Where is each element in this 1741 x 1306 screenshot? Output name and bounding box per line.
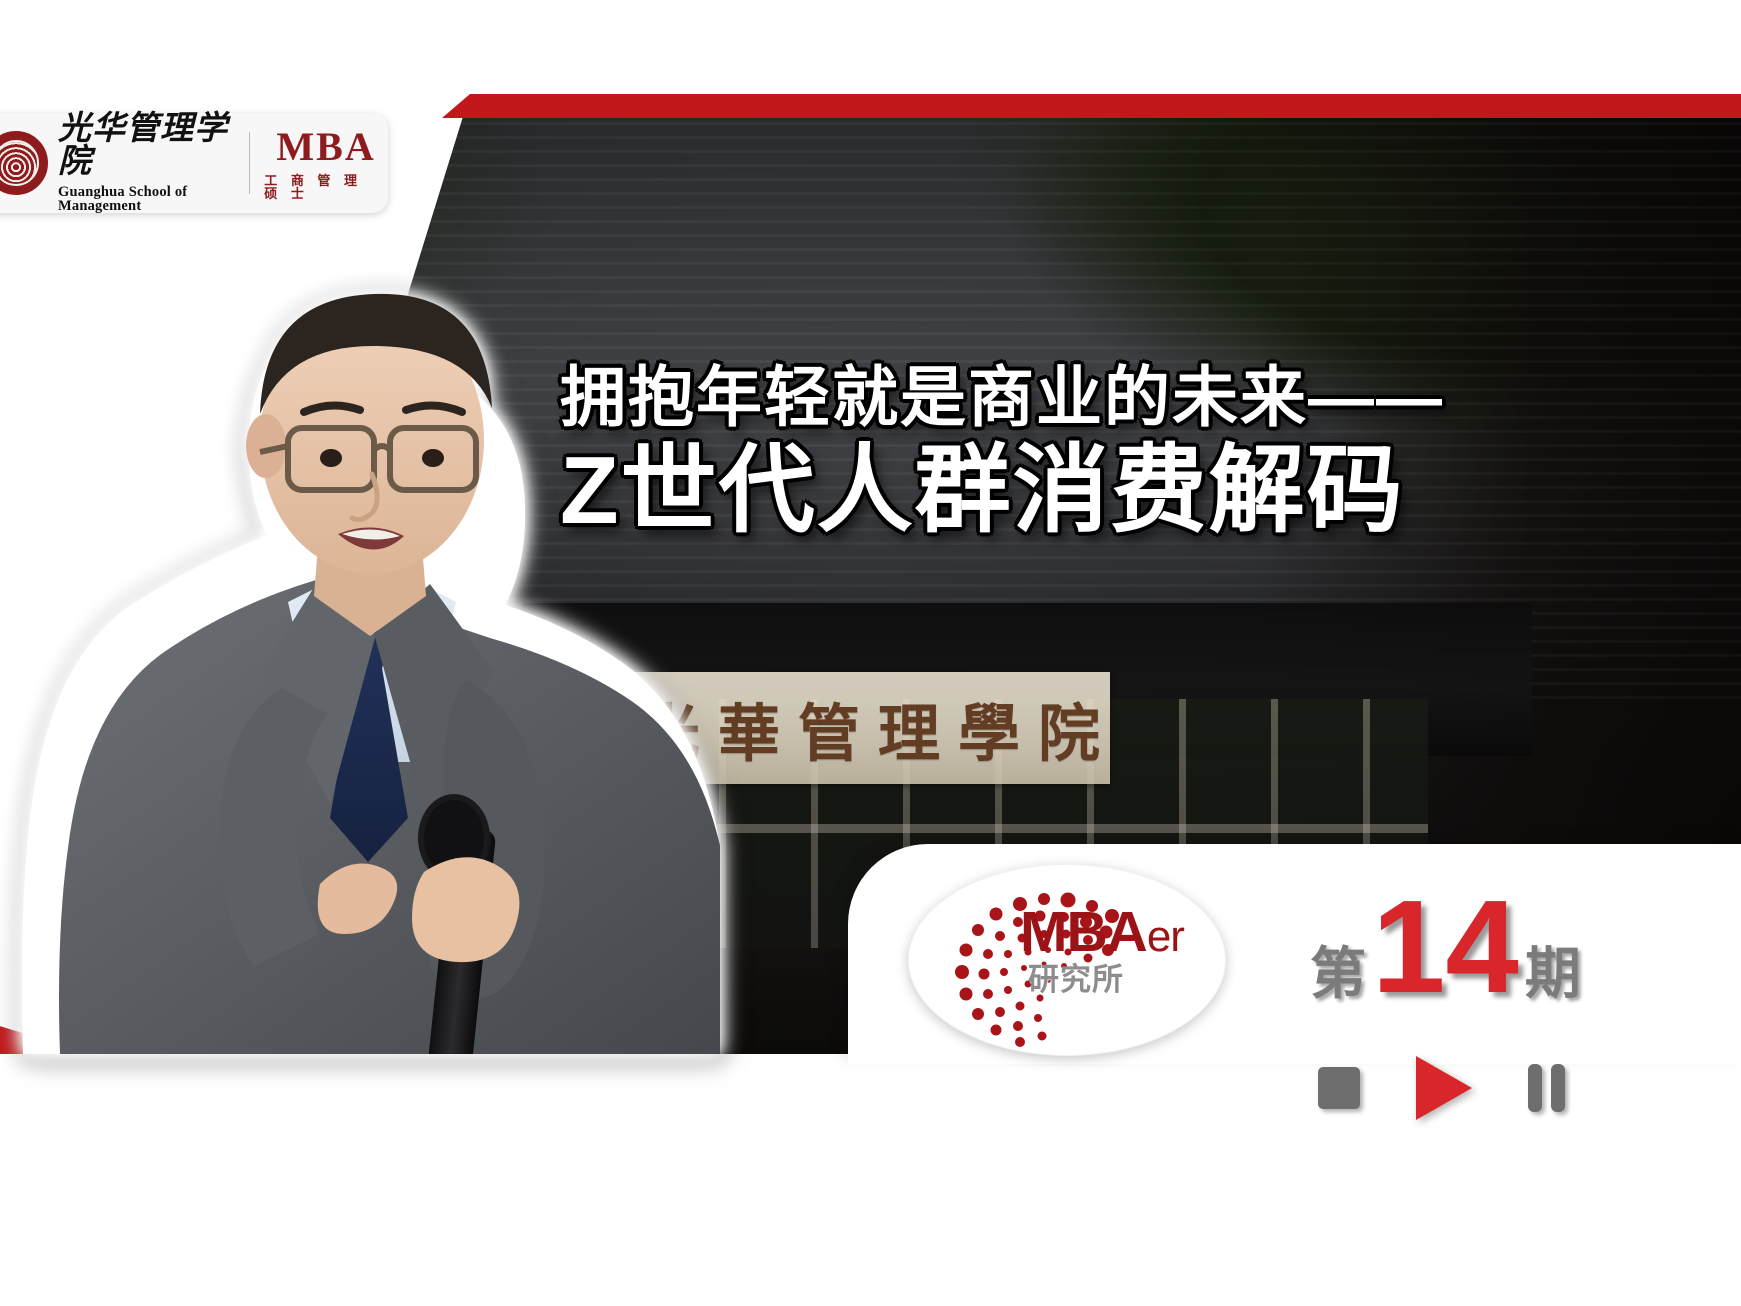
mbaer-wordmark-main: MBA <box>1020 900 1147 964</box>
mba-program-block: MBA 工 商 管 理 硕 士 <box>264 127 388 200</box>
sign-char-5: 學 <box>958 683 1022 773</box>
episode-prefix: 第 <box>1310 947 1366 1003</box>
stop-icon[interactable] <box>1318 1067 1360 1109</box>
mbaer-wordmark: MBAer <box>1020 904 1184 961</box>
episode-number: 14 <box>1372 892 1519 1003</box>
video-thumbnail-canvas: 光 華 管 理 學 院 光华管理学院 Guanghua School of Ma… <box>0 0 1741 1306</box>
sign-char-4: 理 <box>878 683 942 773</box>
play-icon[interactable] <box>1416 1056 1472 1120</box>
school-logo-card: 光华管理学院 Guanghua School of Management MBA… <box>0 113 388 213</box>
episode-badge: 第 14 期 <box>1310 892 1581 1003</box>
pause-icon[interactable] <box>1528 1064 1565 1112</box>
sign-char-6: 院 <box>1038 683 1102 773</box>
playback-controls <box>1318 1056 1565 1120</box>
sign-char-3: 管 <box>798 683 862 773</box>
mbaer-wordmark-cn: 研究所 <box>1028 964 1124 995</box>
door-rail <box>627 824 1428 833</box>
school-name-block: 光华管理学院 Guanghua School of Management <box>58 113 235 214</box>
speaker-portrait <box>20 250 720 1054</box>
pku-seal-icon <box>0 131 48 195</box>
episode-suffix: 期 <box>1525 947 1581 1003</box>
speaker-right-hand <box>412 857 519 962</box>
mbaer-series-logo: MBAer 研究所 <box>908 864 1226 1056</box>
mbaer-wordmark-suffix: er <box>1147 912 1184 961</box>
sign-char-2: 華 <box>718 683 782 773</box>
mba-abbreviation: MBA <box>276 127 375 167</box>
school-name-en: Guanghua School of Management <box>58 185 235 214</box>
school-name-cn: 光华管理学院 <box>58 113 235 179</box>
logo-divider <box>249 132 250 194</box>
mba-program-cn: 工 商 管 理 硕 士 <box>264 174 388 200</box>
